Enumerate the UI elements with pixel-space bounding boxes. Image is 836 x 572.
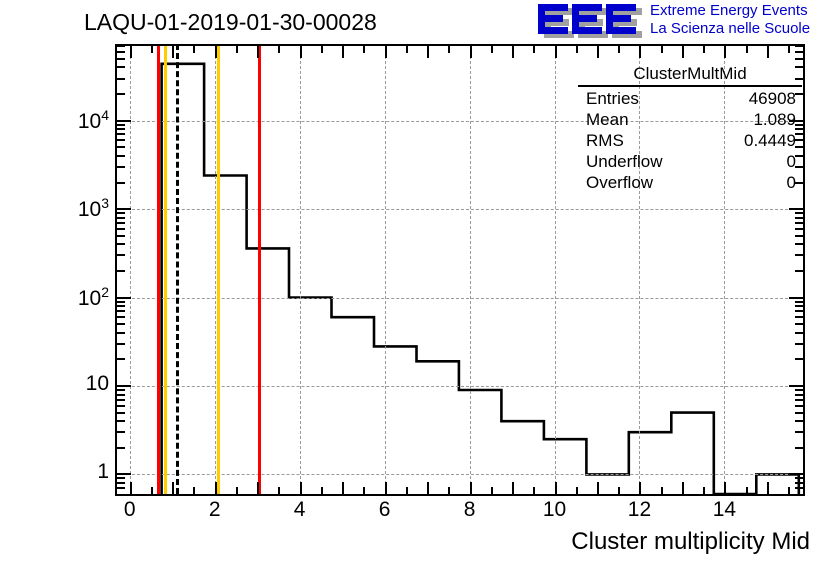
y-tick-minor [117, 358, 125, 360]
eee-logo-text: Extreme Energy Events La Scienza nelle S… [650, 2, 810, 38]
y-tick-minor-right [795, 316, 803, 318]
eee-logo-mark [538, 3, 644, 37]
x-tick-minor [321, 487, 323, 494]
y-tick-minor-right [795, 212, 803, 214]
y-tick-minor [117, 389, 125, 391]
x-tick-minor-top [406, 46, 408, 53]
x-tick-major-top [172, 46, 174, 58]
x-tick-major-top [597, 46, 599, 58]
x-tick-minor-top [151, 46, 153, 53]
x-tick-minor [618, 487, 620, 494]
x-tick-major-top [470, 46, 472, 58]
y-tick-minor-right [795, 394, 803, 396]
x-tick-major-top [215, 46, 217, 58]
y-tick-major-right [789, 473, 803, 475]
y-tick-minor-right [795, 58, 803, 60]
x-tick-major [130, 482, 132, 494]
y-tick-minor-right [795, 358, 803, 360]
stats-rows: Entries46908Mean1.089RMS0.4449Underflow0… [578, 88, 802, 193]
y-tick-minor-right [795, 235, 803, 237]
x-tick-major-top [639, 46, 641, 58]
x-tick-label: 4 [270, 498, 330, 522]
y-tick-minor [117, 243, 125, 245]
x-tick-minor-top [193, 46, 195, 53]
stats-row: Entries46908 [578, 88, 802, 109]
x-tick-minor [151, 487, 153, 494]
x-tick-minor-top [236, 46, 238, 53]
y-tick-minor-right [795, 431, 803, 433]
y-tick-minor-right [795, 45, 803, 47]
y-tick-minor-right [795, 254, 803, 256]
y-tick-minor [117, 477, 125, 479]
x-tick-major-top [767, 46, 769, 58]
eee-letter-1 [538, 3, 568, 35]
y-tick-minor [117, 399, 125, 401]
y-tick-minor [117, 332, 125, 334]
y-tick-minor [117, 305, 125, 307]
y-tick-minor-right [795, 270, 803, 272]
x-tick-minor [703, 487, 705, 494]
stats-value: 1.089 [753, 109, 796, 130]
y-tick-minor-right [795, 243, 803, 245]
y-tick-minor-right [795, 222, 803, 224]
x-tick-major-top [300, 46, 302, 58]
x-tick-major [724, 482, 726, 494]
y-tick-label: 1 [45, 460, 109, 484]
eee-letter-3 [606, 3, 636, 35]
y-tick-minor [117, 431, 125, 433]
y-tick-minor [117, 128, 125, 130]
x-tick-label: 2 [185, 498, 245, 522]
y-tick-minor-right [795, 389, 803, 391]
y-tick-major-right [789, 297, 803, 299]
y-tick-label: 103 [45, 195, 109, 222]
x-tick-major-top [682, 46, 684, 58]
y-tick-minor [117, 166, 125, 168]
y-tick-minor-right [795, 217, 803, 219]
x-tick-minor [746, 487, 748, 494]
x-tick-minor [236, 487, 238, 494]
y-tick-minor-right [795, 405, 803, 407]
x-tick-major-top [342, 46, 344, 58]
x-tick-minor [576, 487, 578, 494]
y-tick-minor [117, 58, 125, 60]
y-tick-minor [117, 93, 125, 95]
x-tick-major [385, 482, 387, 494]
y-tick-minor [117, 420, 125, 422]
x-tick-minor [363, 487, 365, 494]
y-tick-minor-right [795, 323, 803, 325]
y-tick-minor-right [795, 412, 803, 414]
x-tick-minor [788, 487, 790, 494]
y-tick-minor-right [795, 301, 803, 303]
stats-box: ClusterMultMid Entries46908Mean1.089RMS0… [578, 64, 802, 193]
y-tick-minor [117, 301, 125, 303]
y-tick-minor-right [795, 447, 803, 449]
plot-title: LAQU-01-2019-01-30-00028 [84, 9, 377, 36]
x-tick-minor-top [788, 46, 790, 53]
y-tick-major [117, 120, 131, 122]
y-tick-minor [117, 182, 125, 184]
y-tick-minor [117, 139, 125, 141]
y-tick-minor-right [795, 399, 803, 401]
x-tick-major-top [385, 46, 387, 58]
y-tick-minor [117, 45, 125, 47]
y-tick-minor [117, 412, 125, 414]
eee-logo-line2: La Scienza nelle Scuole [650, 20, 810, 38]
x-tick-minor-top [576, 46, 578, 53]
y-tick-minor-right [795, 332, 803, 334]
y-tick-label: 10 [45, 372, 109, 396]
eee-letter-2 [572, 3, 602, 35]
x-tick-major [597, 482, 599, 494]
y-tick-minor [117, 66, 125, 68]
y-tick-minor [117, 155, 125, 157]
y-tick-major-right [789, 385, 803, 387]
stats-key: RMS [586, 130, 624, 151]
x-tick-major-top [724, 46, 726, 58]
stats-title: ClusterMultMid [578, 64, 802, 87]
y-tick-minor [117, 78, 125, 80]
y-tick-minor [117, 212, 125, 214]
stats-row: RMS0.4449 [578, 130, 802, 151]
y-tick-minor [117, 124, 125, 126]
x-tick-label: 10 [525, 498, 585, 522]
stats-value: 0 [787, 172, 796, 193]
y-tick-minor-right [795, 343, 803, 345]
x-tick-major [172, 482, 174, 494]
y-tick-minor [117, 310, 125, 312]
x-tick-major-top [257, 46, 259, 58]
y-tick-major [117, 473, 131, 475]
stats-value: 0 [787, 151, 796, 172]
x-tick-minor [193, 487, 195, 494]
stats-row: Underflow0 [578, 151, 802, 172]
y-tick-minor [117, 222, 125, 224]
y-tick-minor [117, 482, 125, 484]
x-tick-label: 8 [440, 498, 500, 522]
x-tick-minor [448, 487, 450, 494]
x-tick-major [470, 482, 472, 494]
y-tick-major-right [789, 208, 803, 210]
x-tick-minor-top [703, 46, 705, 53]
plot-canvas: LAQU-01-2019-01-30-00028 Extreme E [0, 0, 836, 572]
stats-key: Underflow [586, 151, 663, 172]
y-tick-minor [117, 51, 125, 53]
y-tick-minor [117, 217, 125, 219]
y-tick-minor [117, 228, 125, 230]
stats-key: Entries [586, 88, 639, 109]
y-tick-minor [117, 487, 125, 489]
y-tick-minor-right [795, 482, 803, 484]
y-tick-minor-right [795, 487, 803, 489]
x-tick-minor-top [363, 46, 365, 53]
stats-key: Mean [586, 109, 629, 130]
x-tick-major-top [130, 46, 132, 58]
x-tick-major [512, 482, 514, 494]
y-tick-label: 104 [45, 107, 109, 134]
x-tick-major-top [555, 46, 557, 58]
y-tick-major [117, 208, 131, 210]
y-tick-minor [117, 323, 125, 325]
x-tick-major [215, 482, 217, 494]
x-tick-major [555, 482, 557, 494]
x-tick-minor-top [661, 46, 663, 53]
x-tick-major-top [512, 46, 514, 58]
x-tick-major [427, 482, 429, 494]
stats-row: Overflow0 [578, 172, 802, 193]
eee-logo-line1: Extreme Energy Events [650, 2, 810, 20]
x-tick-major [342, 482, 344, 494]
x-tick-minor [278, 487, 280, 494]
x-tick-minor-top [448, 46, 450, 53]
y-tick-minor [117, 447, 125, 449]
x-tick-major [257, 482, 259, 494]
y-tick-minor [117, 133, 125, 135]
y-tick-minor-right [795, 310, 803, 312]
y-tick-minor [117, 146, 125, 148]
x-tick-minor-top [491, 46, 493, 53]
x-tick-minor-top [618, 46, 620, 53]
y-tick-minor [117, 405, 125, 407]
x-axis-title: Cluster multiplicity Mid [571, 528, 810, 556]
y-tick-minor [117, 343, 125, 345]
x-tick-major [767, 482, 769, 494]
y-tick-minor [117, 254, 125, 256]
y-tick-minor [117, 394, 125, 396]
y-tick-minor-right [795, 228, 803, 230]
y-tick-minor-right [795, 305, 803, 307]
y-tick-major [117, 297, 131, 299]
y-tick-major [117, 385, 131, 387]
x-tick-minor [533, 487, 535, 494]
x-tick-label: 14 [694, 498, 754, 522]
x-tick-minor [406, 487, 408, 494]
x-tick-major [639, 482, 641, 494]
y-tick-minor [117, 235, 125, 237]
stats-row: Mean1.089 [578, 109, 802, 130]
y-tick-minor [117, 270, 125, 272]
stats-value: 46908 [749, 88, 796, 109]
eee-logo: Extreme Energy Events La Scienza nelle S… [538, 2, 834, 40]
x-tick-label: 12 [609, 498, 669, 522]
x-tick-label: 0 [100, 498, 160, 522]
y-tick-minor-right [795, 51, 803, 53]
y-tick-minor [117, 316, 125, 318]
x-tick-minor-top [746, 46, 748, 53]
y-tick-label: 102 [45, 284, 109, 311]
y-tick-minor-right [795, 420, 803, 422]
stats-value: 0.4449 [744, 130, 796, 151]
y-tick-minor-right [795, 477, 803, 479]
x-tick-major [300, 482, 302, 494]
x-tick-minor [491, 487, 493, 494]
x-tick-major [682, 482, 684, 494]
stats-key: Overflow [586, 172, 653, 193]
x-tick-minor [661, 487, 663, 494]
x-tick-label: 6 [355, 498, 415, 522]
x-tick-minor-top [278, 46, 280, 53]
x-tick-minor-top [321, 46, 323, 53]
x-tick-major-top [427, 46, 429, 58]
x-tick-minor-top [533, 46, 535, 53]
